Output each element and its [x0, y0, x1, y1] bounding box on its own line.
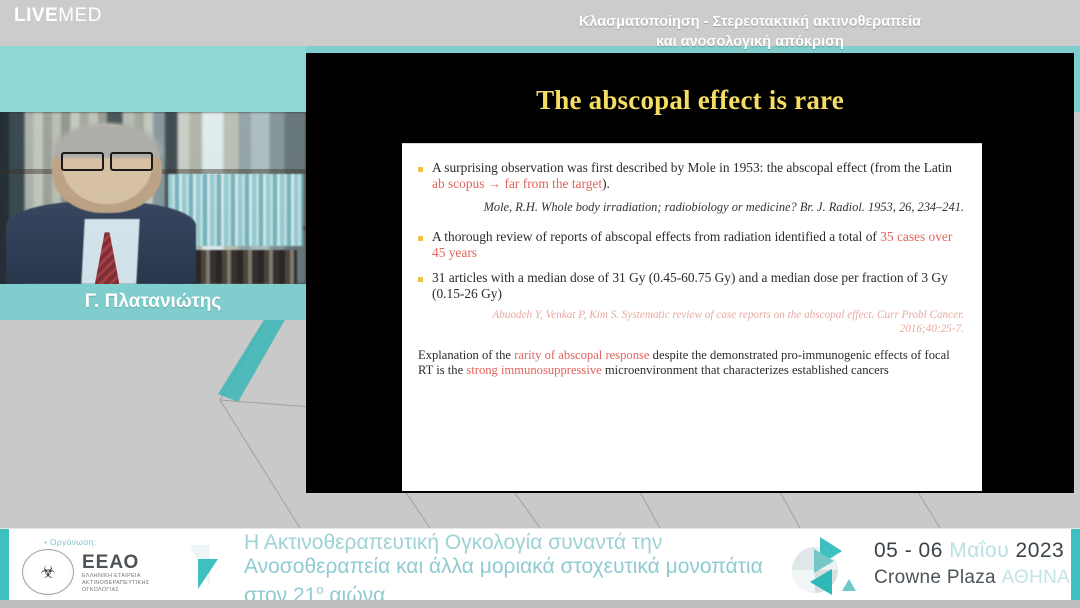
bullet-highlight: ab scopus → far from the target [432, 176, 602, 191]
footer-accent-right [1071, 529, 1080, 601]
livemed-logo-bold: LIVE [14, 5, 58, 26]
presentation-slide[interactable]: The abscopal effect is rare A surprising… [306, 53, 1074, 493]
society-line3: ΟΓΚΟΛΟΓΙΑΣ [82, 587, 149, 593]
slide-content-box: A surprising observation was first descr… [402, 143, 982, 491]
explanation-highlight-1: rarity of abscopal response [514, 348, 649, 362]
bullet-text-pre: 31 articles with a median dose of 31 Gy … [432, 270, 948, 301]
eeao-society-logo: ☣ [22, 549, 74, 595]
bullet-marker-icon [418, 229, 432, 241]
session-title: Κλασματοποίηση - Στερεοτακτική ακτινοθερ… [430, 12, 1070, 52]
event-venue: Crowne Plaza ΑΘΗΝΑ [874, 567, 1070, 589]
livemed-logo-light: MED [58, 5, 102, 26]
footer-accent-left [0, 529, 9, 601]
event-date-month: Μαΐου [949, 539, 1009, 562]
event-title: Η Ακτινοθεραπευτική Ογκολογία συναντά τη… [244, 531, 784, 608]
citation-2: Abuodeh Y, Venkat P, Kim S. Systematic r… [458, 309, 964, 336]
bullet-marker-icon [418, 160, 432, 172]
event-title-line3-sup: ο [316, 582, 323, 597]
event-date: 05 - 06 Μαΐου 2023 [874, 539, 1064, 563]
event-date-year: 2023 [1009, 539, 1064, 562]
session-title-line2: και ανοσολογική απόκριση [430, 32, 1070, 52]
slide-title: The abscopal effect is rare [306, 85, 1074, 116]
livemed-logo: LIVEMED [14, 5, 102, 27]
venue-city: ΑΘΗΝΑ [1001, 567, 1070, 588]
citation-1: Mole, R.H. Whole body irradiation; radio… [442, 200, 964, 215]
left-teal-block [0, 46, 306, 112]
bullet-marker-icon [418, 270, 432, 282]
bullet-text: A thorough review of reports of abscopal… [432, 229, 966, 260]
bullet-text-pre: A surprising observation was first descr… [432, 160, 952, 175]
bullet-item: 31 articles with a median dose of 31 Gy … [418, 270, 966, 301]
bullet-text: A surprising observation was first descr… [432, 160, 966, 191]
society-line1: ΕΛΛΗΝΙΚΗ ΕΤΑΙΡΕΙΑ [82, 573, 149, 579]
speaker-name: Γ. Πλατανιώτης [85, 291, 222, 313]
organizer-label: • Οργάνωση: [44, 537, 96, 547]
bottom-grey-strip [0, 600, 1080, 608]
bullet-text-pre: A thorough review of reports of abscopal… [432, 229, 880, 244]
speaker-name-banner: Γ. Πλατανιώτης [0, 284, 306, 320]
explanation-part-1: Explanation of the [418, 348, 514, 362]
explanation-part-3: microenvironment that characterizes esta… [602, 363, 889, 377]
bullet-item: A thorough review of reports of abscopal… [418, 229, 966, 260]
bullet-item: A surprising observation was first descr… [418, 160, 966, 191]
speaker-video-frame [0, 112, 306, 284]
speaker-video-feed[interactable] [0, 112, 306, 284]
explanation-paragraph: Explanation of the rarity of abscopal re… [418, 348, 966, 377]
bullet-text-post: ). [602, 176, 610, 191]
event-title-line1: Η Ακτινοθεραπευτική Ογκολογία συναντά τη… [244, 531, 784, 555]
triangle-decoration-icon [186, 545, 232, 591]
video-color-tint [0, 112, 306, 284]
venue-name: Crowne Plaza [874, 567, 1001, 588]
society-acronym: ΕΕΑΟ [82, 553, 149, 572]
crab-icon: ☣ [40, 564, 55, 581]
session-title-line1: Κλασματοποίηση - Στερεοτακτική ακτινοθερ… [430, 12, 1070, 32]
explanation-highlight-2: strong immunosuppressive [466, 363, 601, 377]
congress-logo-icon [790, 535, 862, 597]
broadcast-screen: LIVEMED Κλασματοποίηση - Στερεοτακτική α… [0, 0, 1080, 608]
bullet-text: 31 articles with a median dose of 31 Gy … [432, 270, 966, 301]
society-line2: ΑΚΤΙΝΟΘΕΡΑΠΕΥΤΙΚΗΣ [82, 580, 149, 586]
eeao-society-text: ΕΕΑΟ ΕΛΛΗΝΙΚΗ ΕΤΑΙΡΕΙΑ ΑΚΤΙΝΟΘΕΡΑΠΕΥΤΙΚΗ… [82, 553, 149, 594]
event-date-days: 05 - 06 [874, 539, 949, 562]
event-footer-banner: • Οργάνωση: ☣ ΕΕΑΟ ΕΛΛΗΝΙΚΗ ΕΤΑΙΡΕΙΑ ΑΚΤ… [0, 528, 1080, 600]
event-title-line2: Ανοσοθεραπεία και άλλα μοριακά στοχευτικ… [244, 555, 784, 579]
